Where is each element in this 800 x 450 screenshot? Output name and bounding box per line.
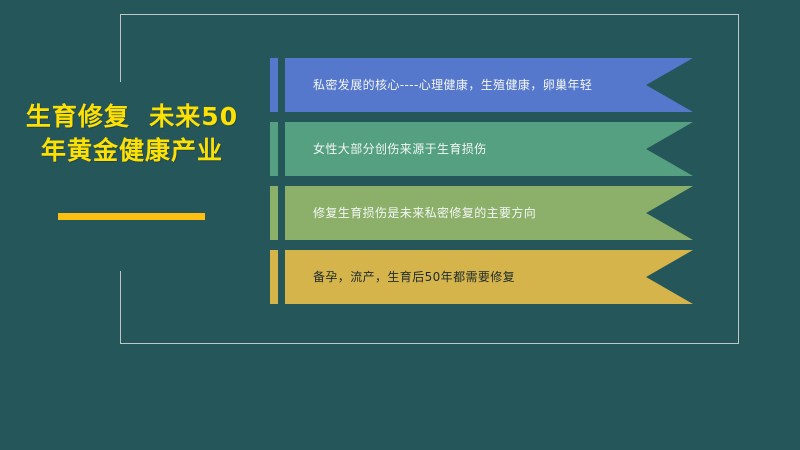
frame-left-rule-lower xyxy=(120,271,121,344)
title-block: 生育修复 未来50年黄金健康产业 xyxy=(24,100,240,168)
ribbon-body: 私密发展的核心----心理健康，生殖健康，卵巢年轻 xyxy=(285,58,693,112)
ribbon-body: 女性大部分创伤来源于生育损伤 xyxy=(285,122,693,176)
ribbon-accent-tab xyxy=(270,58,278,112)
ribbon-label: 女性大部分创伤来源于生育损伤 xyxy=(285,142,487,156)
ribbon-accent-tab xyxy=(270,122,278,176)
ribbon-label: 修复生育损伤是未来私密修复的主要方向 xyxy=(285,206,536,220)
slide-canvas: 生育修复 未来50年黄金健康产业 私密发展的核心----心理健康，生殖健康，卵巢… xyxy=(0,0,800,450)
ribbon-body: 修复生育损伤是未来私密修复的主要方向 xyxy=(285,186,693,240)
frame-bottom-rule xyxy=(120,343,739,344)
ribbon-body: 备孕，流产，生育后50年都需要修复 xyxy=(285,250,693,304)
frame-left-rule-upper xyxy=(120,14,121,82)
slide-title: 生育修复 未来50年黄金健康产业 xyxy=(24,100,240,168)
frame-right-rule xyxy=(738,14,739,344)
ribbon-label: 私密发展的核心----心理健康，生殖健康，卵巢年轻 xyxy=(285,78,592,92)
frame-top-rule xyxy=(120,14,739,15)
ribbon-accent-tab xyxy=(270,186,278,240)
ribbon-accent-tab xyxy=(270,250,278,304)
ribbon-label: 备孕，流产，生育后50年都需要修复 xyxy=(285,270,515,284)
title-underline-bar xyxy=(58,213,205,220)
